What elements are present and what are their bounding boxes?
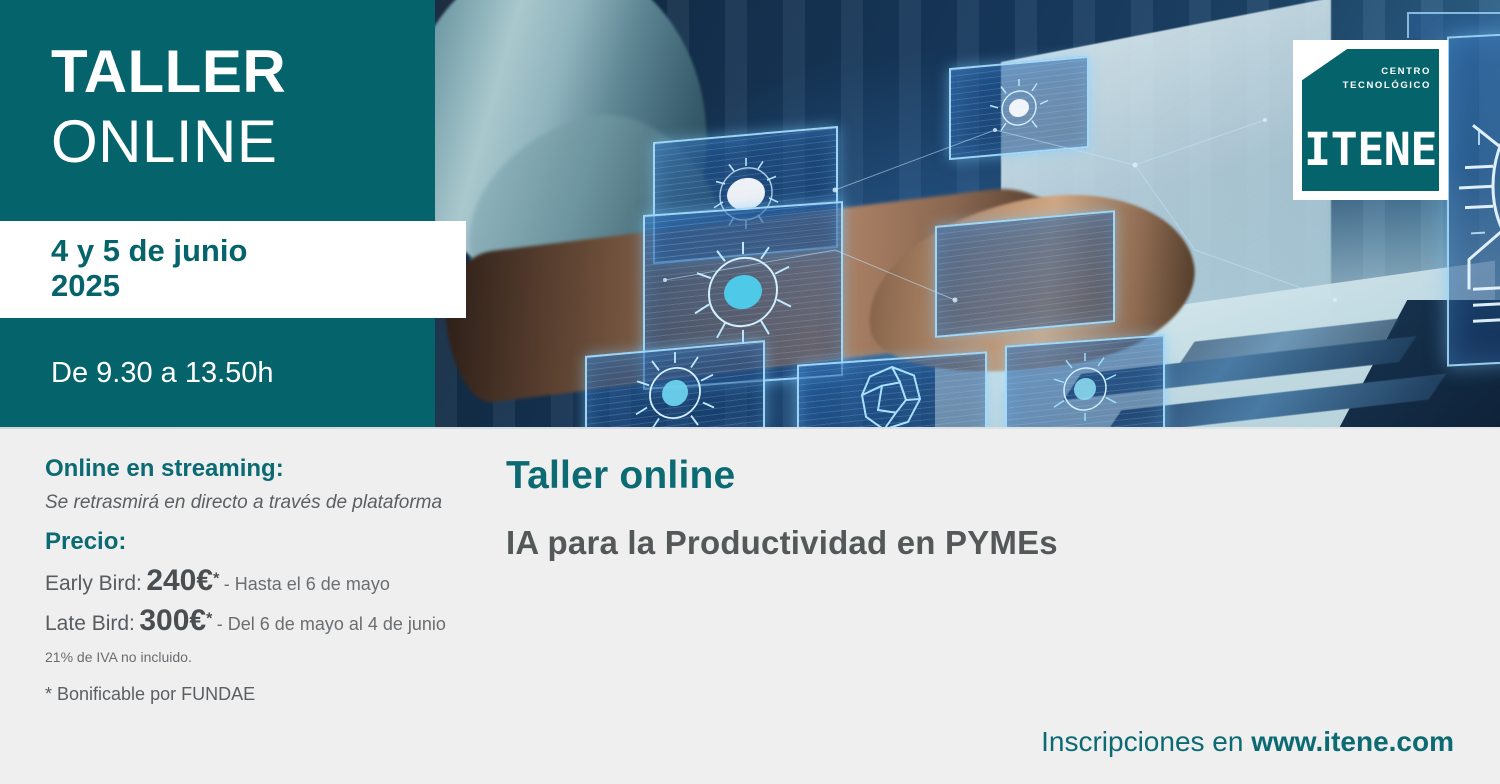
- hero-title-line2: ONLINE: [51, 112, 277, 172]
- hero-time: De 9.30 a 13.50h: [51, 357, 274, 390]
- itene-logo-tagline-line2: TECNOLÓGICO: [1302, 79, 1431, 93]
- promotional-poster: TALLER ONLINE De 9.30 a 13.50h 4 y 5 de …: [0, 0, 1500, 784]
- itene-logo-tagline-line1: CENTRO: [1302, 65, 1431, 79]
- details-left-column: Online en streaming: Se retrasmirá en di…: [45, 455, 495, 705]
- price-amount-early: 240€: [146, 564, 213, 597]
- price-label-early: Early Bird:: [45, 572, 142, 595]
- streaming-description: Se retrasmirá en directo a través de pla…: [45, 491, 495, 515]
- registration-cta-url[interactable]: www.itene.com: [1251, 726, 1454, 757]
- price-asterisk-early: *: [213, 571, 219, 588]
- event-date-line1: 4 y 5 de junio: [51, 233, 247, 269]
- price-label-late: Late Bird:: [45, 612, 135, 635]
- itene-logo-shape: CENTRO TECNOLÓGICO ITENE: [1302, 49, 1439, 191]
- price-row-early: Early Bird: 240€* - Hasta el 6 de mayo: [45, 566, 495, 596]
- details-section: Online en streaming: Se retrasmirá en di…: [0, 430, 1500, 784]
- vat-note: 21% de IVA no incluido.: [45, 649, 495, 665]
- event-date-box: 4 y 5 de junio 2025: [0, 221, 466, 318]
- price-row-late: Late Bird: 300€* - Del 6 de mayo al 4 de…: [45, 606, 495, 636]
- price-note-late: - Del 6 de mayo al 4 de junio: [217, 614, 446, 634]
- hero-title-line1: TALLER: [51, 42, 286, 102]
- fundae-note: * Bonificable por FUNDAE: [45, 684, 495, 705]
- details-right-column: Taller online IA para la Productividad e…: [506, 454, 1058, 562]
- hero-teal-panel: TALLER ONLINE De 9.30 a 13.50h: [0, 0, 435, 429]
- hero-banner: TALLER ONLINE De 9.30 a 13.50h 4 y 5 de …: [0, 0, 1500, 429]
- registration-cta-prefix: Inscripciones en: [1041, 726, 1251, 757]
- hero-divider: [0, 427, 1500, 429]
- course-subtitle: IA para la Productividad en PYMEs: [506, 524, 1058, 562]
- streaming-heading: Online en streaming:: [45, 455, 495, 484]
- price-amount-late: 300€: [139, 604, 206, 637]
- price-heading: Precio:: [45, 528, 495, 556]
- itene-logo[interactable]: CENTRO TECNOLÓGICO ITENE: [1293, 40, 1448, 200]
- price-asterisk-late: *: [206, 611, 212, 628]
- registration-cta[interactable]: Inscripciones en www.itene.com: [1041, 726, 1454, 758]
- event-date-line2: 2025: [51, 268, 120, 304]
- price-note-early: - Hasta el 6 de mayo: [224, 574, 390, 594]
- itene-logo-tagline: CENTRO TECNOLÓGICO: [1302, 65, 1431, 93]
- itene-logo-wordmark: ITENE: [1302, 127, 1439, 172]
- course-title: Taller online: [506, 454, 1058, 498]
